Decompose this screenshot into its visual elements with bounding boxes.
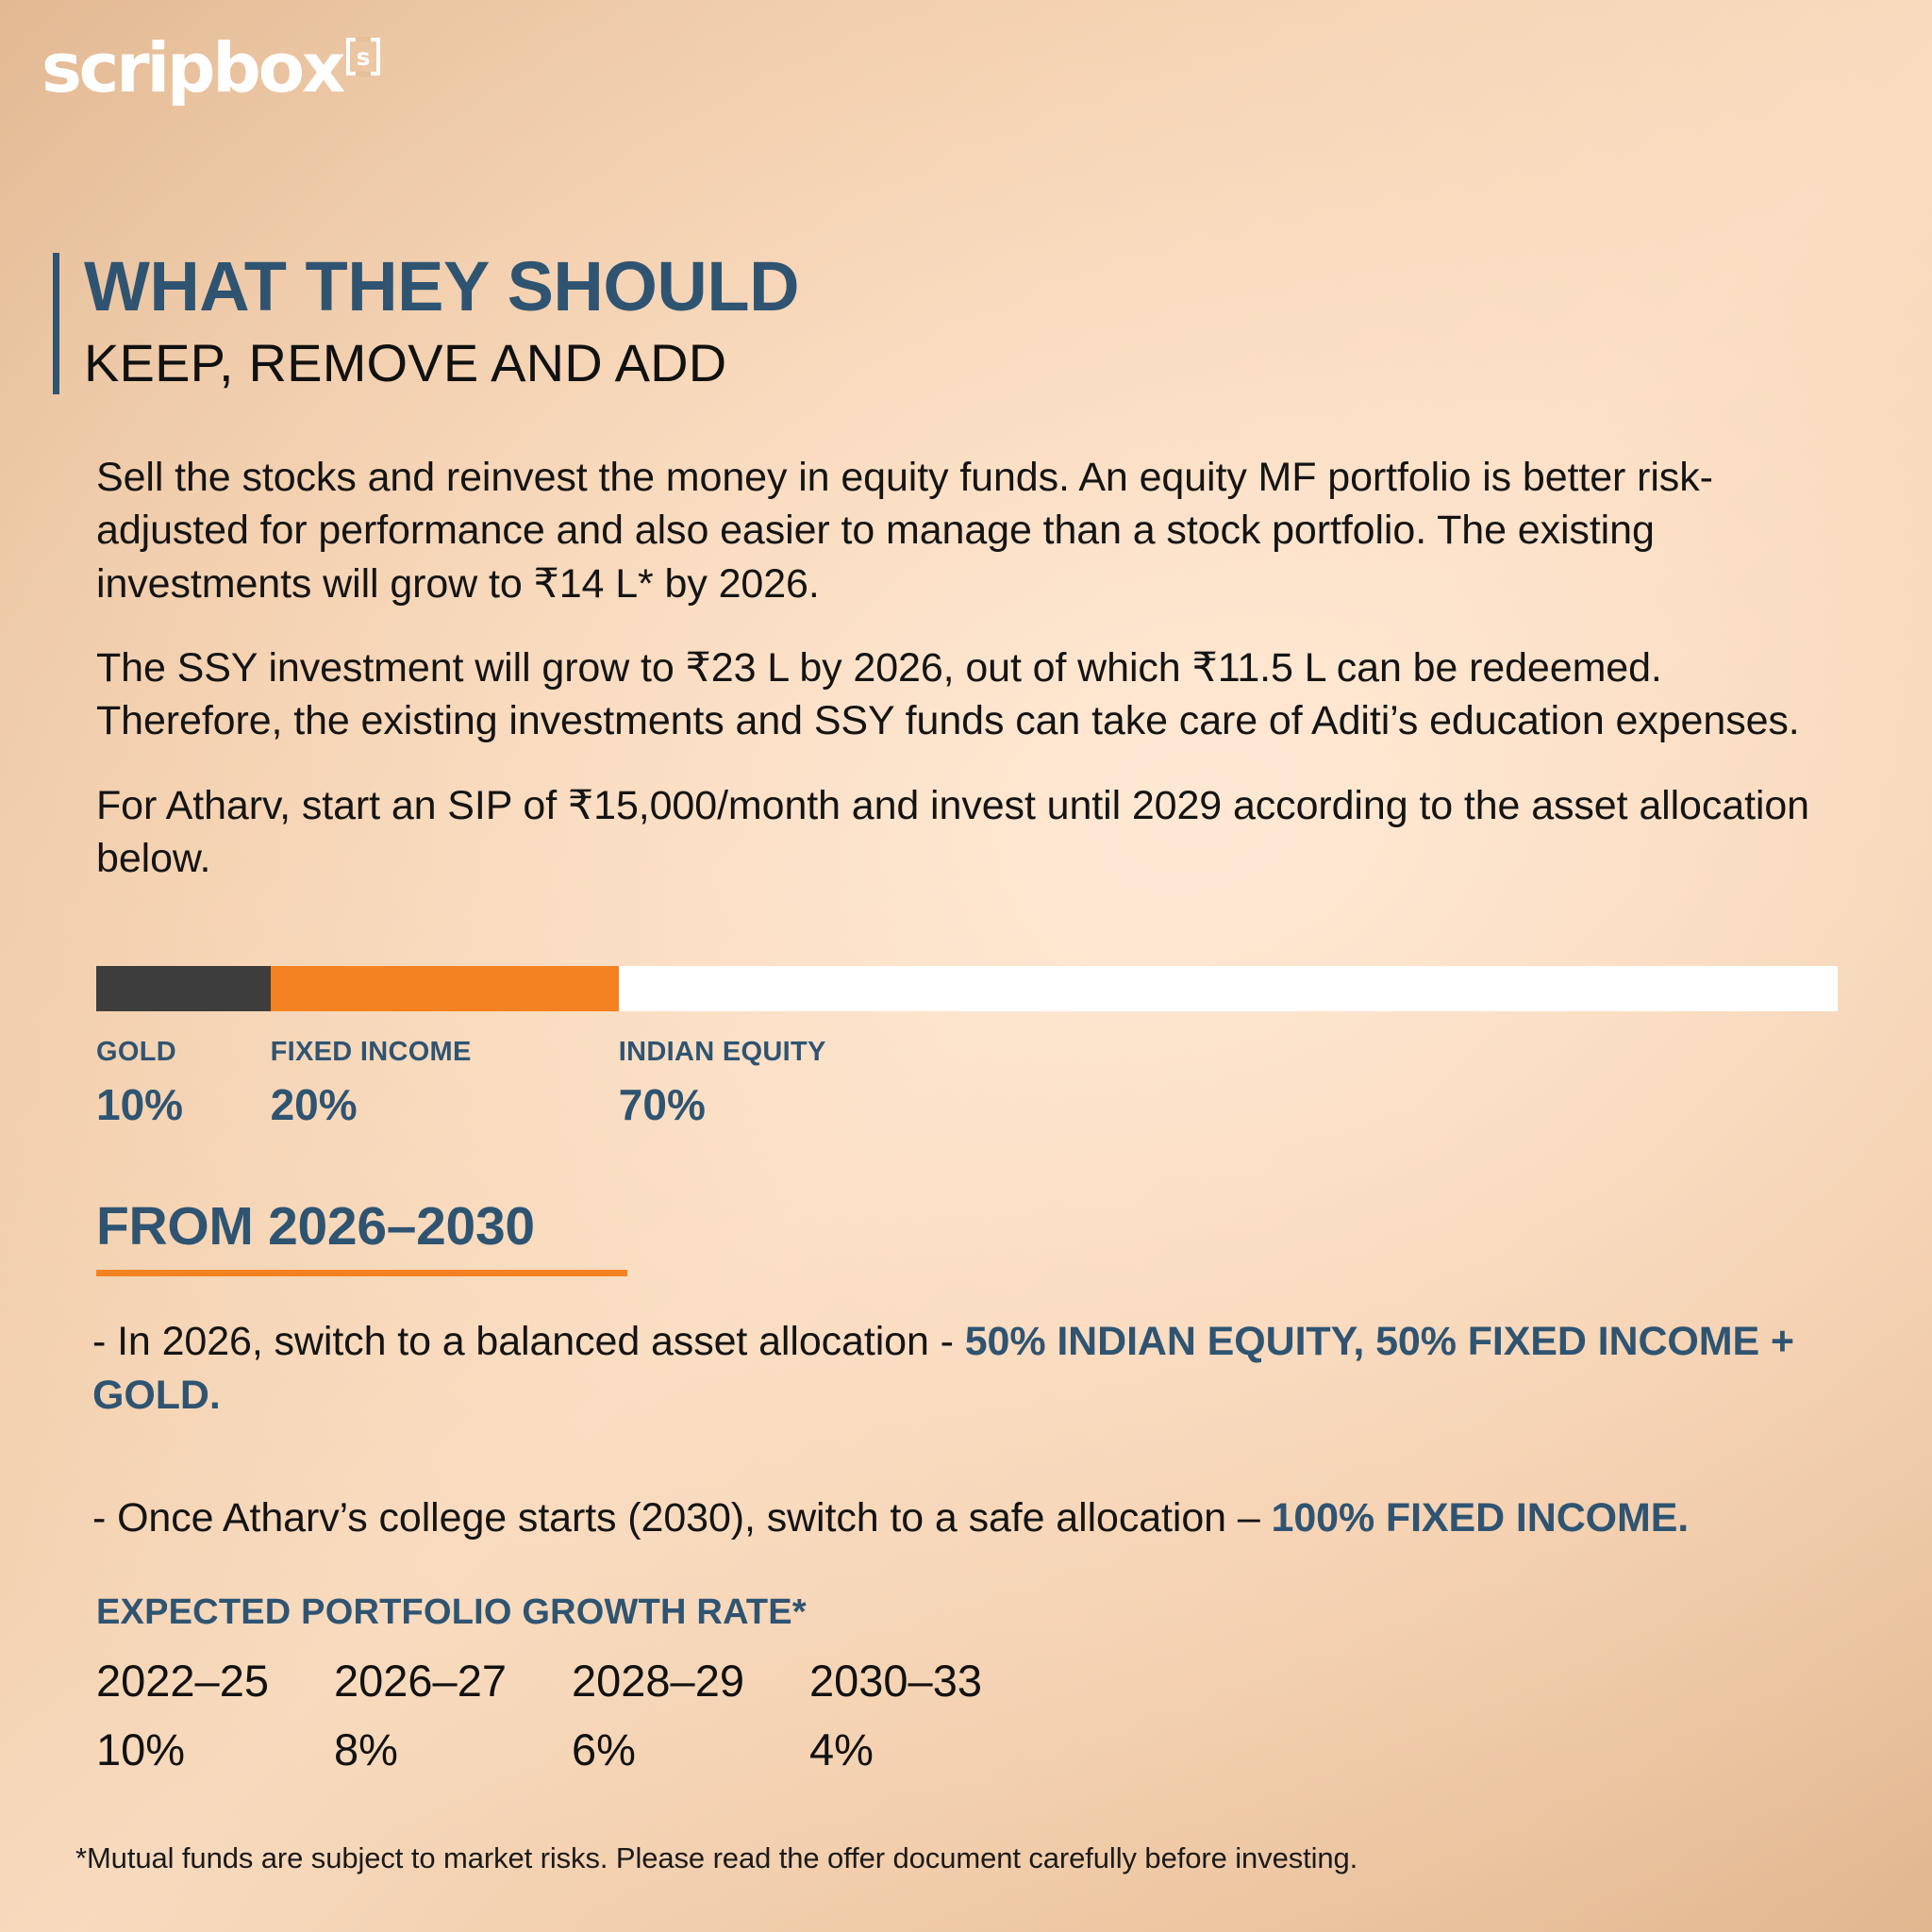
growth-rate: 10% xyxy=(96,1727,269,1772)
legend-item-fixed-income: FIXED INCOME 20% xyxy=(271,1039,472,1126)
from-section-bullets: - In 2026, switch to a balanced asset al… xyxy=(92,1315,1847,1546)
bullet-2-emphasis: 100% FIXED INCOME. xyxy=(1272,1495,1690,1541)
legend-item-gold: GOLD 10% xyxy=(96,1039,183,1126)
brand-superscript-letter: s xyxy=(346,38,380,75)
bar-segment-fixed-income xyxy=(271,966,619,1011)
legend-value-fixed-income: 20% xyxy=(271,1083,472,1126)
legend-label-fixed-income: FIXED INCOME xyxy=(271,1039,472,1066)
growth-period: 2030–33 xyxy=(809,1658,982,1703)
paragraph-2: The SSY investment will grow to ₹23 L by… xyxy=(96,641,1837,748)
legend-item-indian-equity: INDIAN EQUITY 70% xyxy=(619,1039,826,1126)
paragraph-1: Sell the stocks and reinvest the money i… xyxy=(96,451,1837,610)
growth-rate: 4% xyxy=(809,1727,982,1772)
growth-column: 2030–33 4% xyxy=(809,1658,982,1772)
growth-column: 2022–25 10% xyxy=(96,1658,269,1772)
brand-wordmark: scripbox xyxy=(42,34,342,102)
legend-value-gold: 10% xyxy=(96,1083,183,1126)
growth-column: 2026–27 8% xyxy=(334,1658,507,1772)
bullet-item-2: - Once Atharv’s college starts (2030), s… xyxy=(92,1491,1847,1545)
growth-rate-table: EXPECTED PORTFOLIO GROWTH RATE* 2022–25 … xyxy=(96,1594,1323,1790)
growth-rate-columns: 2022–25 10% 2026–27 8% 2028–29 6% 2030–3… xyxy=(96,1658,1323,1790)
bar-segment-indian-equity xyxy=(619,966,1838,1011)
growth-rate: 8% xyxy=(334,1727,507,1772)
legend-label-gold: GOLD xyxy=(96,1039,183,1066)
allocation-legend: GOLD 10% FIXED INCOME 20% INDIAN EQUITY … xyxy=(96,1039,1838,1142)
body-copy: Sell the stocks and reinvest the money i… xyxy=(96,451,1837,885)
from-section-header: FROM 2026–2030 xyxy=(96,1200,627,1276)
infographic-page: scripbox s WHAT THEY SHOULD KEEP, REMOVE… xyxy=(0,0,1932,1932)
headline-block: WHAT THEY SHOULD KEEP, REMOVE AND ADD xyxy=(53,253,799,394)
asset-allocation-chart: GOLD 10% FIXED INCOME 20% INDIAN EQUITY … xyxy=(96,966,1838,1142)
bar-segment-gold xyxy=(96,966,271,1011)
scripbox-logo: scripbox s xyxy=(42,34,380,102)
allocation-stacked-bar xyxy=(96,966,1838,1011)
bullet-1-plain: - In 2026, switch to a balanced asset al… xyxy=(92,1319,965,1364)
growth-column: 2028–29 6% xyxy=(572,1658,744,1772)
growth-rate: 6% xyxy=(572,1727,744,1772)
legend-value-indian-equity: 70% xyxy=(619,1083,826,1126)
legend-label-indian-equity: INDIAN EQUITY xyxy=(619,1039,826,1066)
from-section-title: FROM 2026–2030 xyxy=(96,1200,627,1254)
footer-disclaimer: *Mutual funds are subject to market risk… xyxy=(75,1841,1357,1875)
growth-period: 2026–27 xyxy=(334,1658,507,1703)
bullet-2-plain: - Once Atharv’s college starts (2030), s… xyxy=(92,1495,1272,1541)
headline-text-group: WHAT THEY SHOULD KEEP, REMOVE AND ADD xyxy=(84,253,799,394)
paragraph-3: For Atharv, start an SIP of ₹15,000/mont… xyxy=(96,779,1837,886)
growth-period: 2022–25 xyxy=(96,1658,269,1703)
headline-accent-rule xyxy=(53,253,59,394)
from-section-underline xyxy=(96,1270,627,1276)
growth-rate-title: EXPECTED PORTFOLIO GROWTH RATE* xyxy=(96,1594,1323,1630)
growth-period: 2028–29 xyxy=(572,1658,744,1703)
page-title: WHAT THEY SHOULD xyxy=(84,253,799,320)
bullet-item-1: - In 2026, switch to a balanced asset al… xyxy=(92,1315,1847,1423)
brand-superscript-badge: s xyxy=(346,38,380,75)
page-subtitle: KEEP, REMOVE AND ADD xyxy=(84,331,799,394)
